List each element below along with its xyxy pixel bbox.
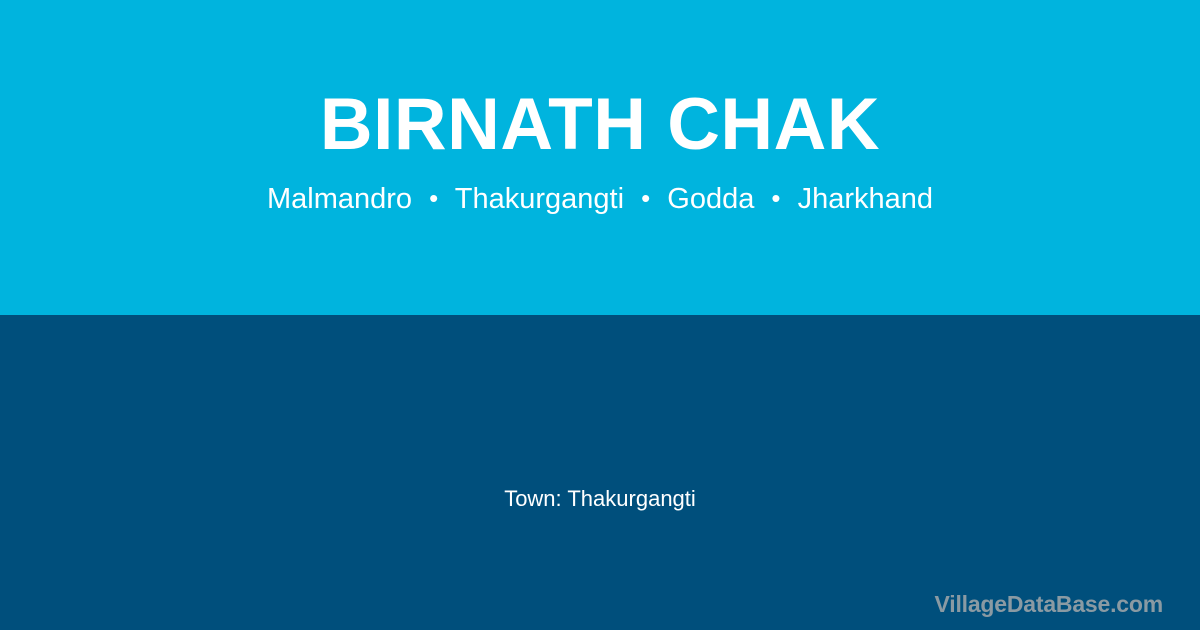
site-watermark: VillageDataBase.com [935, 593, 1163, 616]
page-title: BIRNATH CHAK [320, 88, 880, 162]
breadcrumb-separator: • [762, 183, 789, 214]
breadcrumb-separator: • [420, 183, 447, 214]
town-detail: Town: Thakurgangti [0, 486, 1200, 512]
breadcrumb-item-state: Jharkhand [798, 183, 933, 215]
breadcrumb: Malmandro • Thakurgangti • Godda • Jhark… [267, 182, 933, 217]
breadcrumb-item-town: Thakurgangti [455, 183, 624, 215]
details-panel: Town: Thakurgangti VillageDataBase.com [0, 315, 1200, 630]
breadcrumb-separator: • [632, 183, 659, 214]
breadcrumb-item-district: Godda [667, 183, 754, 215]
hero-banner: BIRNATH CHAK Malmandro • Thakurgangti • … [0, 0, 1200, 315]
village-info-card: BIRNATH CHAK Malmandro • Thakurgangti • … [0, 0, 1200, 630]
breadcrumb-item-village: Malmandro [267, 183, 412, 215]
